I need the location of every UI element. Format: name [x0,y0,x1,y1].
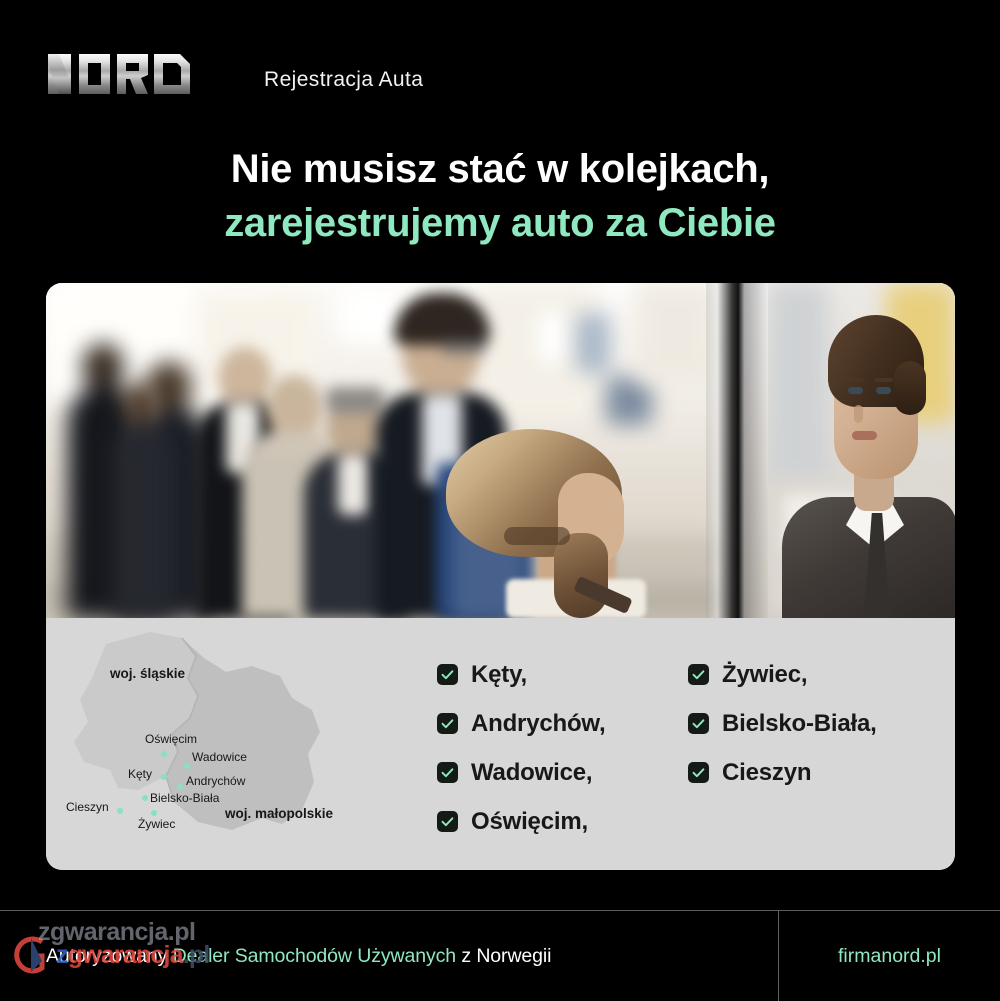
map-label-cieszyn: Cieszyn [66,800,109,814]
list-item[interactable]: Żywiec, [688,650,877,699]
page-header: Rejestracja Auta [0,0,1000,130]
check-icon [437,664,458,685]
footer-text-part2: z Norwegii [456,945,551,967]
footer-tagline-wrap: Autoryzowany Dealer Samochodów Używanych… [46,911,766,1001]
footer-url[interactable]: firmanord.pl [838,945,941,968]
map-dot-wadowice [184,763,190,769]
check-icon [437,713,458,734]
map-dot-andrychow [177,784,183,790]
map-label-wadowice: Wadowice [192,750,247,764]
hero-photo [46,283,955,618]
headline-line-2: zarejestrujemy auto za Ciebie [0,196,1000,250]
map-label-andrychow: Andrychów [186,774,245,788]
map-label-malopolskie: woj. małopolskie [225,806,333,821]
page-title: Nie musisz stać w kolejkach, zarejestruj… [0,142,1000,250]
list-item[interactable]: Cieszyn [688,748,877,797]
check-icon [437,811,458,832]
list-item-label: Cieszyn [722,759,811,787]
footer-url-wrap[interactable]: firmanord.pl [779,911,1000,1001]
footer-tagline: Autoryzowany Dealer Samochodów Używanych… [46,945,551,968]
map-shapes [66,626,411,861]
map-label-slaskie: woj. śląskie [110,666,185,681]
list-item[interactable]: Wadowice, [437,748,605,797]
list-item[interactable]: Oświęcim, [437,797,605,846]
map-dot-zywiec [151,810,157,816]
list-item[interactable]: Andrychów, [437,699,605,748]
list-item[interactable]: Bielsko-Biała, [688,699,877,748]
map-label-oswiecim: Oświęcim [145,732,197,746]
check-icon [688,713,709,734]
map-label-kety: Kęty [128,767,152,781]
footer-text-part1: Autoryzowany [46,945,173,967]
map-dot-cieszyn [117,808,123,814]
map-dot-oswiecim [161,751,167,757]
content-card: woj. śląskie woj. małopolskie Oświęcim W… [46,283,955,870]
clerk-photo [768,283,955,618]
foreground-woman-head [446,429,646,618]
map-dot-kety [161,774,167,780]
checklist-column-2: Żywiec, Bielsko-Biała, Cieszyn [688,650,877,797]
nord-logo-icon [46,50,246,96]
map-label-bielsko-biala: Bielsko-Biała [150,791,219,805]
glass-divider [706,283,768,618]
info-panel: woj. śląskie woj. małopolskie Oświęcim W… [46,618,955,870]
list-item-label: Bielsko-Biała, [722,710,877,738]
check-icon [688,664,709,685]
check-icon [688,762,709,783]
list-item[interactable]: Kęty, [437,650,605,699]
map-label-zywiec: Żywiec [138,817,175,831]
coverage-map: woj. śląskie woj. małopolskie Oświęcim W… [66,626,411,861]
check-icon [437,762,458,783]
checklist-column-1: Kęty, Andrychów, Wadowice, [437,650,605,846]
page-footer: Autoryzowany Dealer Samochodów Używanych… [0,910,1000,1000]
headline-line-1: Nie musisz stać w kolejkach, [0,142,1000,196]
footer-text-highlight: Dealer Samochodów Używanych [173,945,456,967]
list-item-label: Żywiec, [722,661,807,689]
brand-lockup[interactable]: Rejestracja Auta [46,50,423,96]
queue-person [112,383,174,618]
brand-tagline: Rejestracja Auta [264,68,423,92]
list-item-label: Oświęcim, [471,808,588,836]
list-item-label: Wadowice, [471,759,592,787]
list-item-label: Andrychów, [471,710,605,738]
map-dot-bielsko-biala [142,795,148,801]
list-item-label: Kęty, [471,661,527,689]
